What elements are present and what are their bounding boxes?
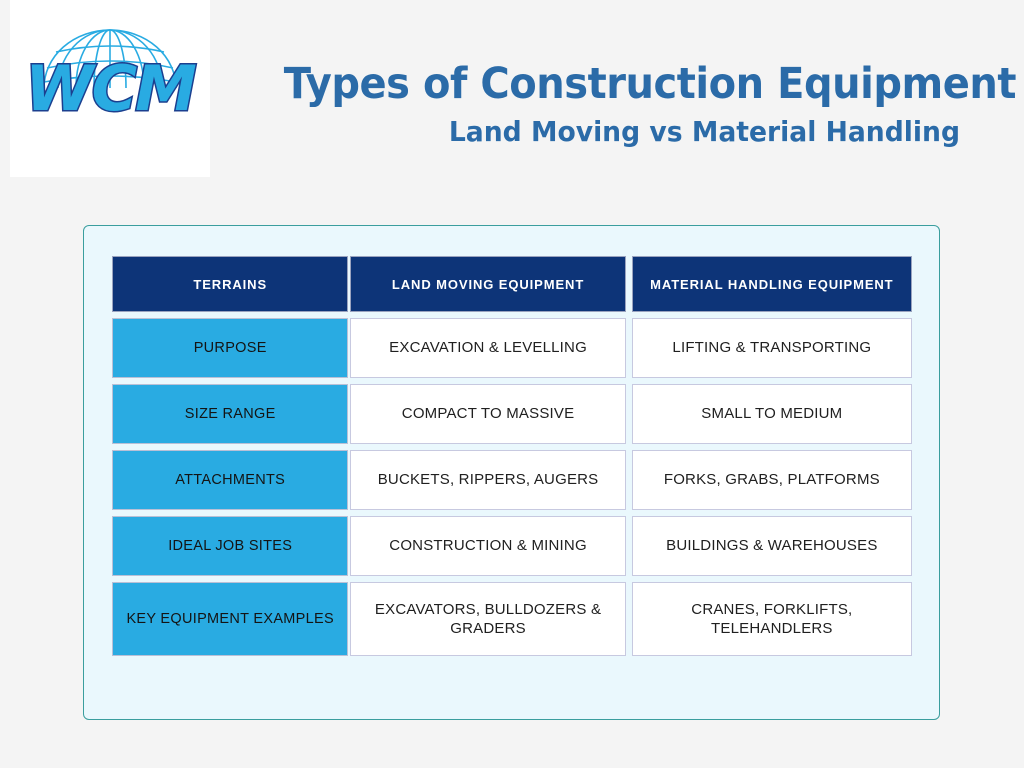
page-title: Types of Construction Equipment bbox=[284, 62, 997, 107]
row-label-size-range: SIZE RANGE bbox=[112, 384, 348, 444]
table-row: SIZE RANGE COMPACT TO MASSIVE SMALL TO M… bbox=[112, 384, 912, 444]
cell-key-equipment-material-handling: CRANES, FORKLIFTS, TELEHANDLERS bbox=[632, 582, 912, 656]
row-label-attachments: ATTACHMENTS bbox=[112, 450, 348, 510]
table-row: PURPOSE EXCAVATION & LEVELLING LIFTING &… bbox=[112, 318, 912, 378]
cell-purpose-material-handling: LIFTING & TRANSPORTING bbox=[632, 318, 912, 378]
cell-attachments-land-moving: BUCKETS, RIPPERS, AUGERS bbox=[350, 450, 625, 510]
table-header-row: TERRAINS LAND MOVING EQUIPMENT MATERIAL … bbox=[112, 256, 912, 312]
logo-container: WCM bbox=[10, 0, 210, 177]
comparison-card: TERRAINS LAND MOVING EQUIPMENT MATERIAL … bbox=[83, 225, 940, 720]
cell-purpose-land-moving: EXCAVATION & LEVELLING bbox=[350, 318, 625, 378]
column-header-land-moving: LAND MOVING EQUIPMENT bbox=[350, 256, 625, 312]
row-label-key-equipment-examples: KEY EQUIPMENT EXAMPLES bbox=[112, 582, 348, 656]
column-header-material-handling: MATERIAL HANDLING EQUIPMENT bbox=[632, 256, 912, 312]
cell-ideal-job-sites-land-moving: CONSTRUCTION & MINING bbox=[350, 516, 625, 576]
logo-inner: WCM bbox=[20, 24, 200, 154]
cell-size-range-land-moving: COMPACT TO MASSIVE bbox=[350, 384, 625, 444]
table-row: KEY EQUIPMENT EXAMPLES EXCAVATORS, BULLD… bbox=[112, 582, 912, 656]
cell-attachments-material-handling: FORKS, GRABS, PLATFORMS bbox=[632, 450, 912, 510]
table-row: ATTACHMENTS BUCKETS, RIPPERS, AUGERS FOR… bbox=[112, 450, 912, 510]
logo-wordmark: WCM bbox=[20, 58, 200, 120]
column-header-terrains: TERRAINS bbox=[112, 256, 348, 312]
cell-size-range-material-handling: SMALL TO MEDIUM bbox=[632, 384, 912, 444]
table-row: IDEAL JOB SITES CONSTRUCTION & MINING BU… bbox=[112, 516, 912, 576]
comparison-table: TERRAINS LAND MOVING EQUIPMENT MATERIAL … bbox=[112, 256, 912, 656]
cell-key-equipment-land-moving: EXCAVATORS, BULLDOZERS & GRADERS bbox=[350, 582, 625, 656]
row-label-ideal-job-sites: IDEAL JOB SITES bbox=[112, 516, 348, 576]
page-subtitle: Land Moving vs Material Handling bbox=[267, 117, 961, 148]
row-label-purpose: PURPOSE bbox=[112, 318, 348, 378]
header: Types of Construction Equipment Land Mov… bbox=[230, 62, 997, 148]
cell-ideal-job-sites-material-handling: BUILDINGS & WAREHOUSES bbox=[632, 516, 912, 576]
